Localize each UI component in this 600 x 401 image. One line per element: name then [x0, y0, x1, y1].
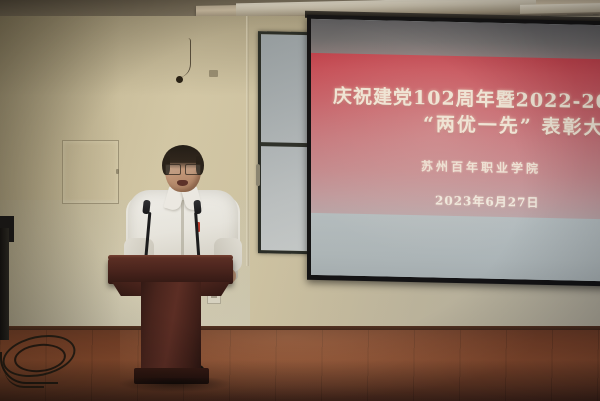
podium-column: BCC — [141, 282, 201, 380]
presenter — [0, 0, 600, 401]
eyeglasses-icon — [165, 164, 201, 173]
podium-floor-shadow — [120, 378, 230, 392]
presenter-mouth — [177, 180, 188, 186]
podium-desktop — [108, 258, 233, 284]
photo-scene: 庆祝建党102周年暨2022-2023 “两优一先” 表彰大会 苏州百年职业学院… — [0, 0, 600, 401]
presenter-brow — [167, 161, 199, 163]
